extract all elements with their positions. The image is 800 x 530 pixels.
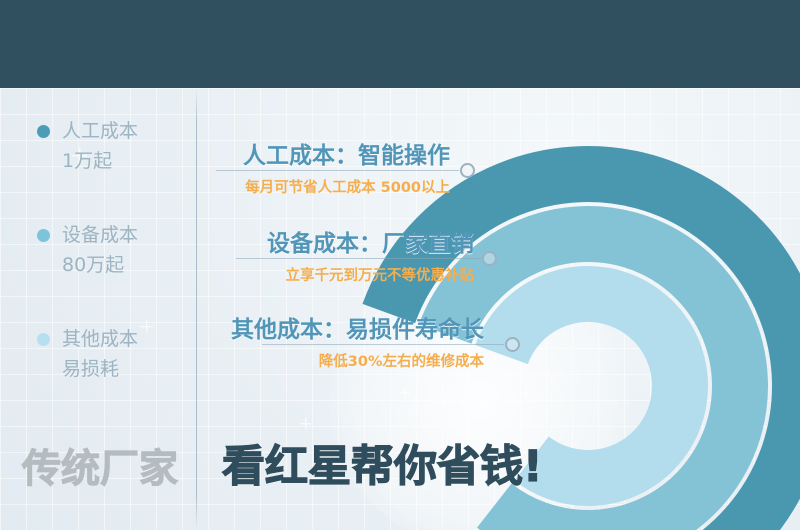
benefit-row-title: 设备成本：厂家直销 bbox=[206, 224, 474, 258]
benefit-row-subtitle: 立享千元到万元不等优惠补贴 bbox=[206, 264, 474, 285]
benefit-row-other[interactable]: 其他成本：易损件寿命长 降低30%左右的维修成本 bbox=[206, 310, 484, 371]
benefit-row-connector-line bbox=[216, 170, 459, 171]
footer-slogan: 看红星帮你省钱! bbox=[222, 432, 543, 494]
footer-traditional-label: 传统厂家 bbox=[22, 438, 178, 494]
benefit-row-equipment[interactable]: 设备成本：厂家直销 立享千元到万元不等优惠补贴 bbox=[206, 224, 474, 285]
benefit-row-connector-node bbox=[460, 163, 475, 178]
benefit-row-connector-node bbox=[505, 337, 520, 352]
benefit-row-connector-line bbox=[236, 258, 481, 259]
benefit-row-subtitle: 降低30%左右的维修成本 bbox=[206, 350, 484, 371]
benefit-row-labor[interactable]: 人工成本：智能操作 每月可节省人工成本 5000以上 bbox=[206, 136, 450, 197]
benefit-row-title: 人工成本：智能操作 bbox=[206, 136, 450, 170]
benefit-row-connector-node bbox=[482, 251, 497, 266]
body-area: 人工成本 1万起 设备成本 80万起 其他成本 易损耗 人工成本：智能操作 每月… bbox=[0, 88, 800, 530]
header-bar bbox=[0, 0, 800, 88]
benefit-row-connector-line bbox=[262, 344, 504, 345]
benefit-row-subtitle: 每月可节省人工成本 5000以上 bbox=[206, 176, 450, 197]
infographic-poster: 成套人工碎沙设备生产线约需要85万以上的成本 bbox=[0, 0, 800, 530]
benefit-row-title: 其他成本：易损件寿命长 bbox=[206, 310, 484, 344]
